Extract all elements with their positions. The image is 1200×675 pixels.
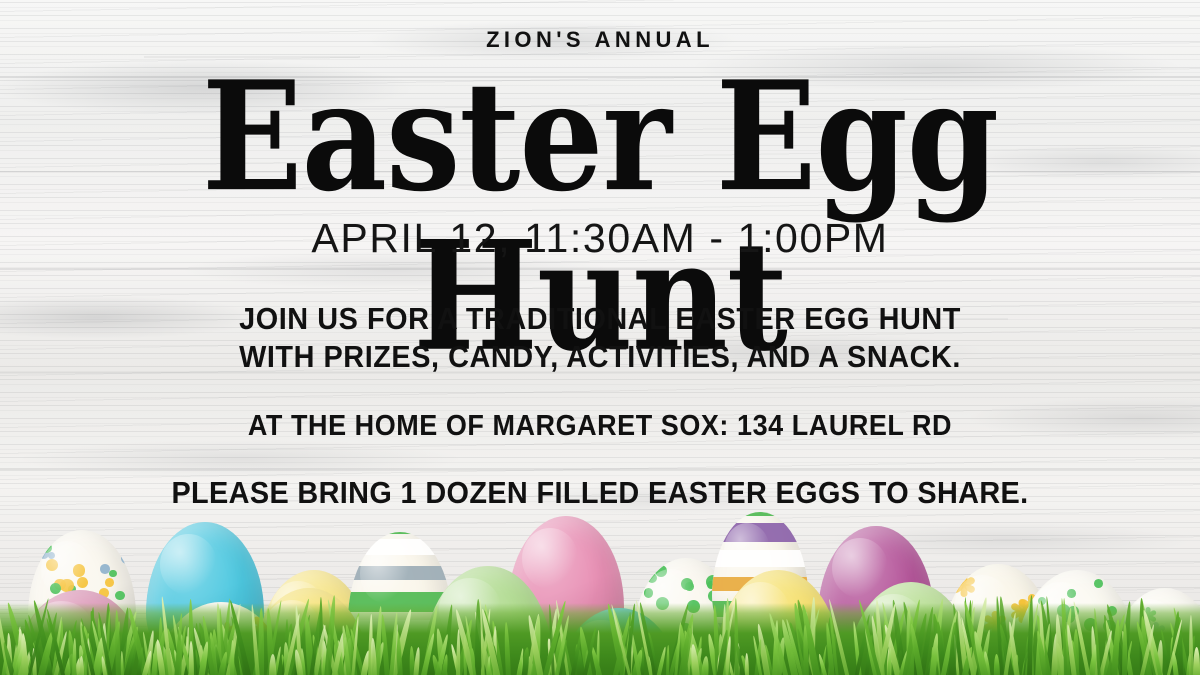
grass-blade: [0, 657, 1, 675]
grass-blade: [258, 608, 264, 675]
grass-blade: [733, 598, 738, 675]
egg-stripe: [348, 566, 452, 580]
grass-blade: [72, 638, 77, 675]
grass-blade: [269, 654, 276, 675]
grass-blade: [744, 653, 748, 675]
egg-stripe: [712, 512, 808, 516]
egg-dot: [109, 570, 116, 577]
grass-blade: [1189, 615, 1193, 675]
location-text: AT THE HOME OF MARGARET SOX: 134 LAUREL …: [42, 412, 1158, 441]
grass-blades: [0, 579, 1200, 675]
easter-egg-hunt-flyer: ZION'S ANNUAL Easter Egg Hunt APRIL 12, …: [0, 0, 1200, 675]
egg-stripe: [712, 550, 808, 567]
date-time-text: APRIL 12, 11:30AM - 1:00PM: [0, 218, 1200, 259]
grass-blade: [413, 647, 421, 675]
grass-blade: [701, 656, 709, 675]
egg-stripe: [348, 532, 452, 534]
egg-stripe: [348, 539, 452, 555]
grass-blade: [666, 645, 670, 675]
description-line-2: WITH PRIZES, CANDY, ACTIVITIES, AND A SN…: [42, 338, 1158, 376]
egg-stripe: [712, 523, 808, 543]
description-line-1: JOIN US FOR A TRADITIONAL EASTER EGG HUN…: [42, 300, 1158, 338]
description-block: JOIN US FOR A TRADITIONAL EASTER EGG HUN…: [42, 300, 1158, 376]
grass-blade: [1193, 647, 1200, 675]
egg-dot: [121, 552, 133, 564]
egg-dot: [73, 564, 85, 576]
instruction-text: PLEASE BRING 1 DOZEN FILLED EASTER EGGS …: [42, 477, 1158, 508]
egg-dot: [42, 543, 52, 553]
grass-blade: [504, 622, 512, 675]
egg-dot: [46, 559, 58, 571]
kicker-text: ZION'S ANNUAL: [0, 29, 1200, 51]
egg-dot: [655, 565, 667, 577]
